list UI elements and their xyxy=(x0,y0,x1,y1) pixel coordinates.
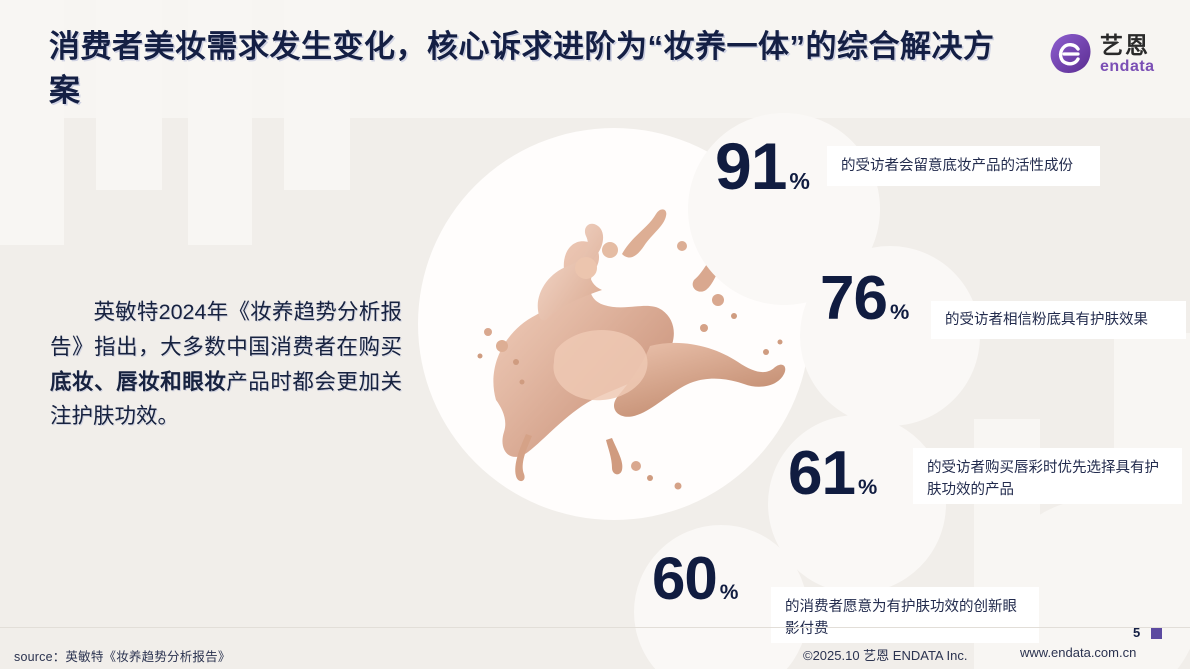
stat-number-1: 91 xyxy=(715,133,786,199)
stat-percent-2: % xyxy=(890,301,909,323)
brand-logo[interactable]: 艺恩 endata xyxy=(1047,27,1182,81)
stat-number-3: 61 xyxy=(788,443,855,505)
source-note: source：英敏特《妆养趋势分析报告》 xyxy=(14,646,231,665)
page-title: 消费者美妆需求发生变化，核心诉求进阶为“妆养一体”的综合解决方案 xyxy=(49,25,1009,113)
lead-paragraph: 英敏特2024年《妆养趋势分析报告》指出，大多数中国消费者在购买底妆、唇妆和眼妆… xyxy=(50,295,402,434)
stat-value-4: 60% xyxy=(652,549,738,609)
stat-value-2: 76% xyxy=(820,268,909,330)
stat-percent-3: % xyxy=(858,476,877,498)
logo-chinese-name: 艺恩 xyxy=(1100,34,1155,57)
stat-number-4: 60 xyxy=(652,549,717,609)
stat-label-text-2: 的受访者相信粉底具有护肤效果 xyxy=(945,309,1148,331)
lead-highlight: 底妆、唇妆和眼妆 xyxy=(50,370,226,394)
stat-label-text-1: 的受访者会留意底妆产品的活性成份 xyxy=(841,155,1073,177)
stat-label-1: 的受访者会留意底妆产品的活性成份 xyxy=(827,146,1100,186)
stat-label-4: 的消费者愿意为有护肤功效的创新眼影付费 xyxy=(771,587,1039,643)
website-url[interactable]: www.endata.com.cn xyxy=(1020,645,1136,660)
slide-canvas: 艺恩 endata 消费者美妆需求发生变化，核心诉求进阶为“妆养一体”的综合解决… xyxy=(0,0,1190,669)
endata-e-logo-icon xyxy=(1047,32,1093,76)
footer-divider xyxy=(0,627,1190,628)
copyright-note: ©2025.10 艺恩 ENDATA Inc. xyxy=(803,645,967,664)
page-number: 5 xyxy=(1133,625,1140,640)
stat-label-text-3: 的受访者购买唇彩时优先选择具有护肤功效的产品 xyxy=(927,460,1159,498)
logo-english-name: endata xyxy=(1100,59,1155,75)
stat-value-3: 61% xyxy=(788,443,877,505)
stat-percent-1: % xyxy=(789,170,810,193)
stat-label-text-4: 的消费者愿意为有护肤功效的创新眼影付费 xyxy=(785,599,1017,637)
logo-wordmark: 艺恩 endata xyxy=(1100,34,1155,75)
page-number-square-icon xyxy=(1151,628,1162,639)
stat-label-2: 的受访者相信粉底具有护肤效果 xyxy=(931,301,1186,339)
stat-label-3: 的受访者购买唇彩时优先选择具有护肤功效的产品 xyxy=(913,448,1182,504)
lead-part-1: 英敏特2024年《妆养趋势分析报告》指出，大多数中国消费者在购买 xyxy=(50,300,402,359)
stat-value-1: 91% xyxy=(715,133,810,199)
stat-percent-4: % xyxy=(720,582,739,603)
stat-number-2: 76 xyxy=(820,268,887,330)
